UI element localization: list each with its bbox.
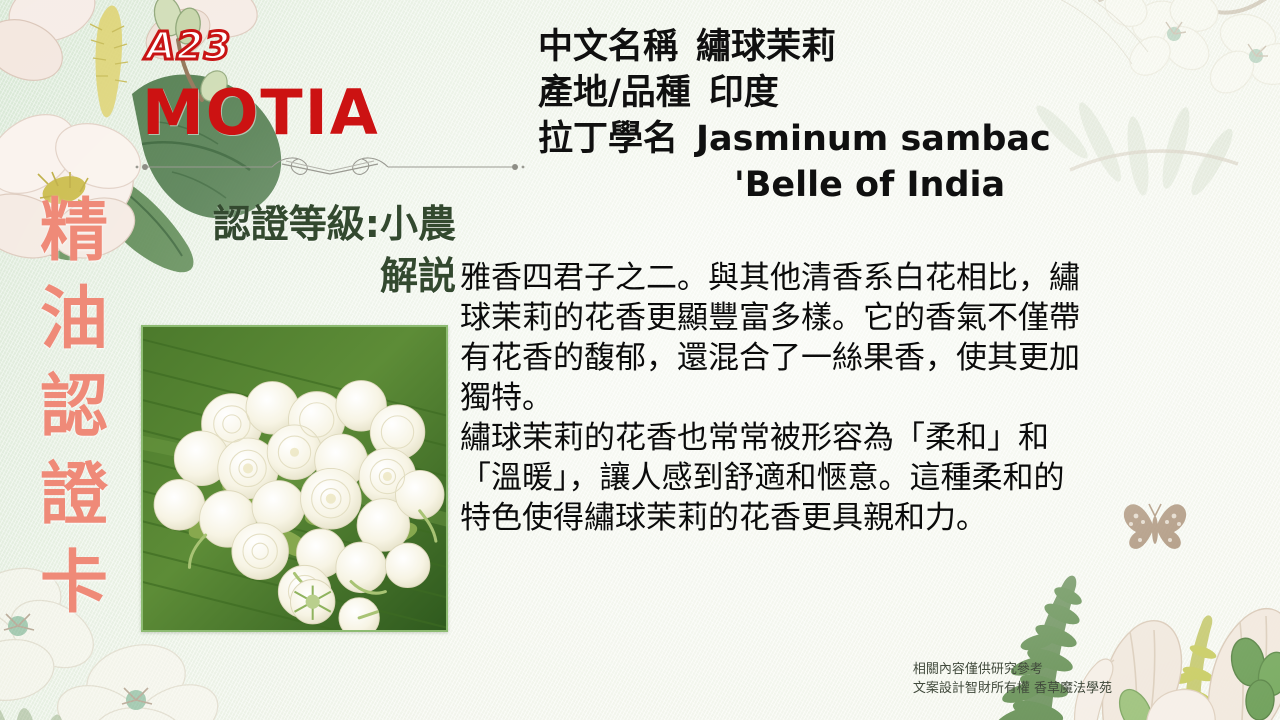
description-line: 球茉莉的花香更顯豐富多樣。它的香氣不僅帶	[460, 298, 1100, 338]
info-value-chinese-name: 繡球茉莉	[696, 24, 836, 70]
essential-oil-certification-card: 精 油 認 證 卡 A23 MOTIA 中文名稱 繡球茉莉 產地/品種 印度 拉…	[0, 0, 1280, 720]
info-row-origin: 產地/品種 印度	[538, 70, 1158, 116]
info-value-origin: 印度	[709, 70, 779, 116]
certification-block: 認證等級:小農 解説	[110, 198, 456, 302]
description-label: 解説	[110, 250, 456, 302]
info-value-latin-name-continuation: 'Belle of India	[538, 162, 1158, 208]
info-key-origin: 產地/品種	[538, 70, 691, 116]
description-line: 有花香的馥郁，還混合了一絲果香，使其更加	[460, 338, 1100, 378]
info-value-latin-name: Jasminum sambac	[696, 116, 1051, 162]
certification-grade: 認證等級:小農	[110, 198, 456, 250]
jasmine-photo	[141, 325, 448, 632]
info-row-chinese-name: 中文名稱 繡球茉莉	[538, 24, 1158, 70]
info-key-chinese-name: 中文名稱	[538, 24, 678, 70]
description-line: 繡球茉莉的花香也常常被形容為「柔和」和	[460, 418, 1100, 458]
description-text: 雅香四君子之二。與其他清香系白花相比，繡 球茉莉的花香更顯豐富多樣。它的香氣不僅…	[460, 258, 1100, 538]
jasmine-photo-illustration	[143, 327, 446, 630]
vertical-title-char-3: 認	[28, 364, 120, 452]
butterfly-icon	[1118, 498, 1192, 558]
description-line: 特色使得繡球茉莉的花香更具親和力。	[460, 498, 1100, 538]
description-line: 雅香四君子之二。與其他清香系白花相比，繡	[460, 258, 1100, 298]
footer-notice: 相關內容僅供研究參考 文案設計智財所有權 香草魔法學苑	[913, 660, 1112, 698]
description-paragraph-2: 繡球茉莉的花香也常常被形容為「柔和」和 「溫暖」，讓人感到舒適和愜意。這種柔和的…	[460, 418, 1100, 538]
footer-line-1: 相關內容僅供研究參考	[913, 660, 1112, 679]
info-key-latin-name: 拉丁學名	[538, 116, 678, 162]
oil-latin-title: MOTIA	[142, 76, 380, 149]
description-line: 獨特。	[460, 378, 1100, 418]
vertical-card-title: 精 油 認 證 卡	[28, 188, 120, 628]
description-line: 「溫暖」，讓人感到舒適和愜意。這種柔和的	[460, 458, 1100, 498]
ornamental-divider	[132, 152, 528, 182]
vertical-title-char-5: 卡	[28, 540, 120, 628]
oil-code-label: A23	[146, 24, 231, 68]
species-info-block: 中文名稱 繡球茉莉 產地/品種 印度 拉丁學名 Jasminum sambac …	[538, 24, 1158, 208]
vertical-title-char-4: 證	[28, 452, 120, 540]
footer-line-2: 文案設計智財所有權 香草魔法學苑	[913, 679, 1112, 698]
info-row-latin-name: 拉丁學名 Jasminum sambac	[538, 116, 1158, 162]
vertical-title-char-1: 精	[28, 188, 120, 276]
description-paragraph-1: 雅香四君子之二。與其他清香系白花相比，繡 球茉莉的花香更顯豐富多樣。它的香氣不僅…	[460, 258, 1100, 418]
vertical-title-char-2: 油	[28, 276, 120, 364]
